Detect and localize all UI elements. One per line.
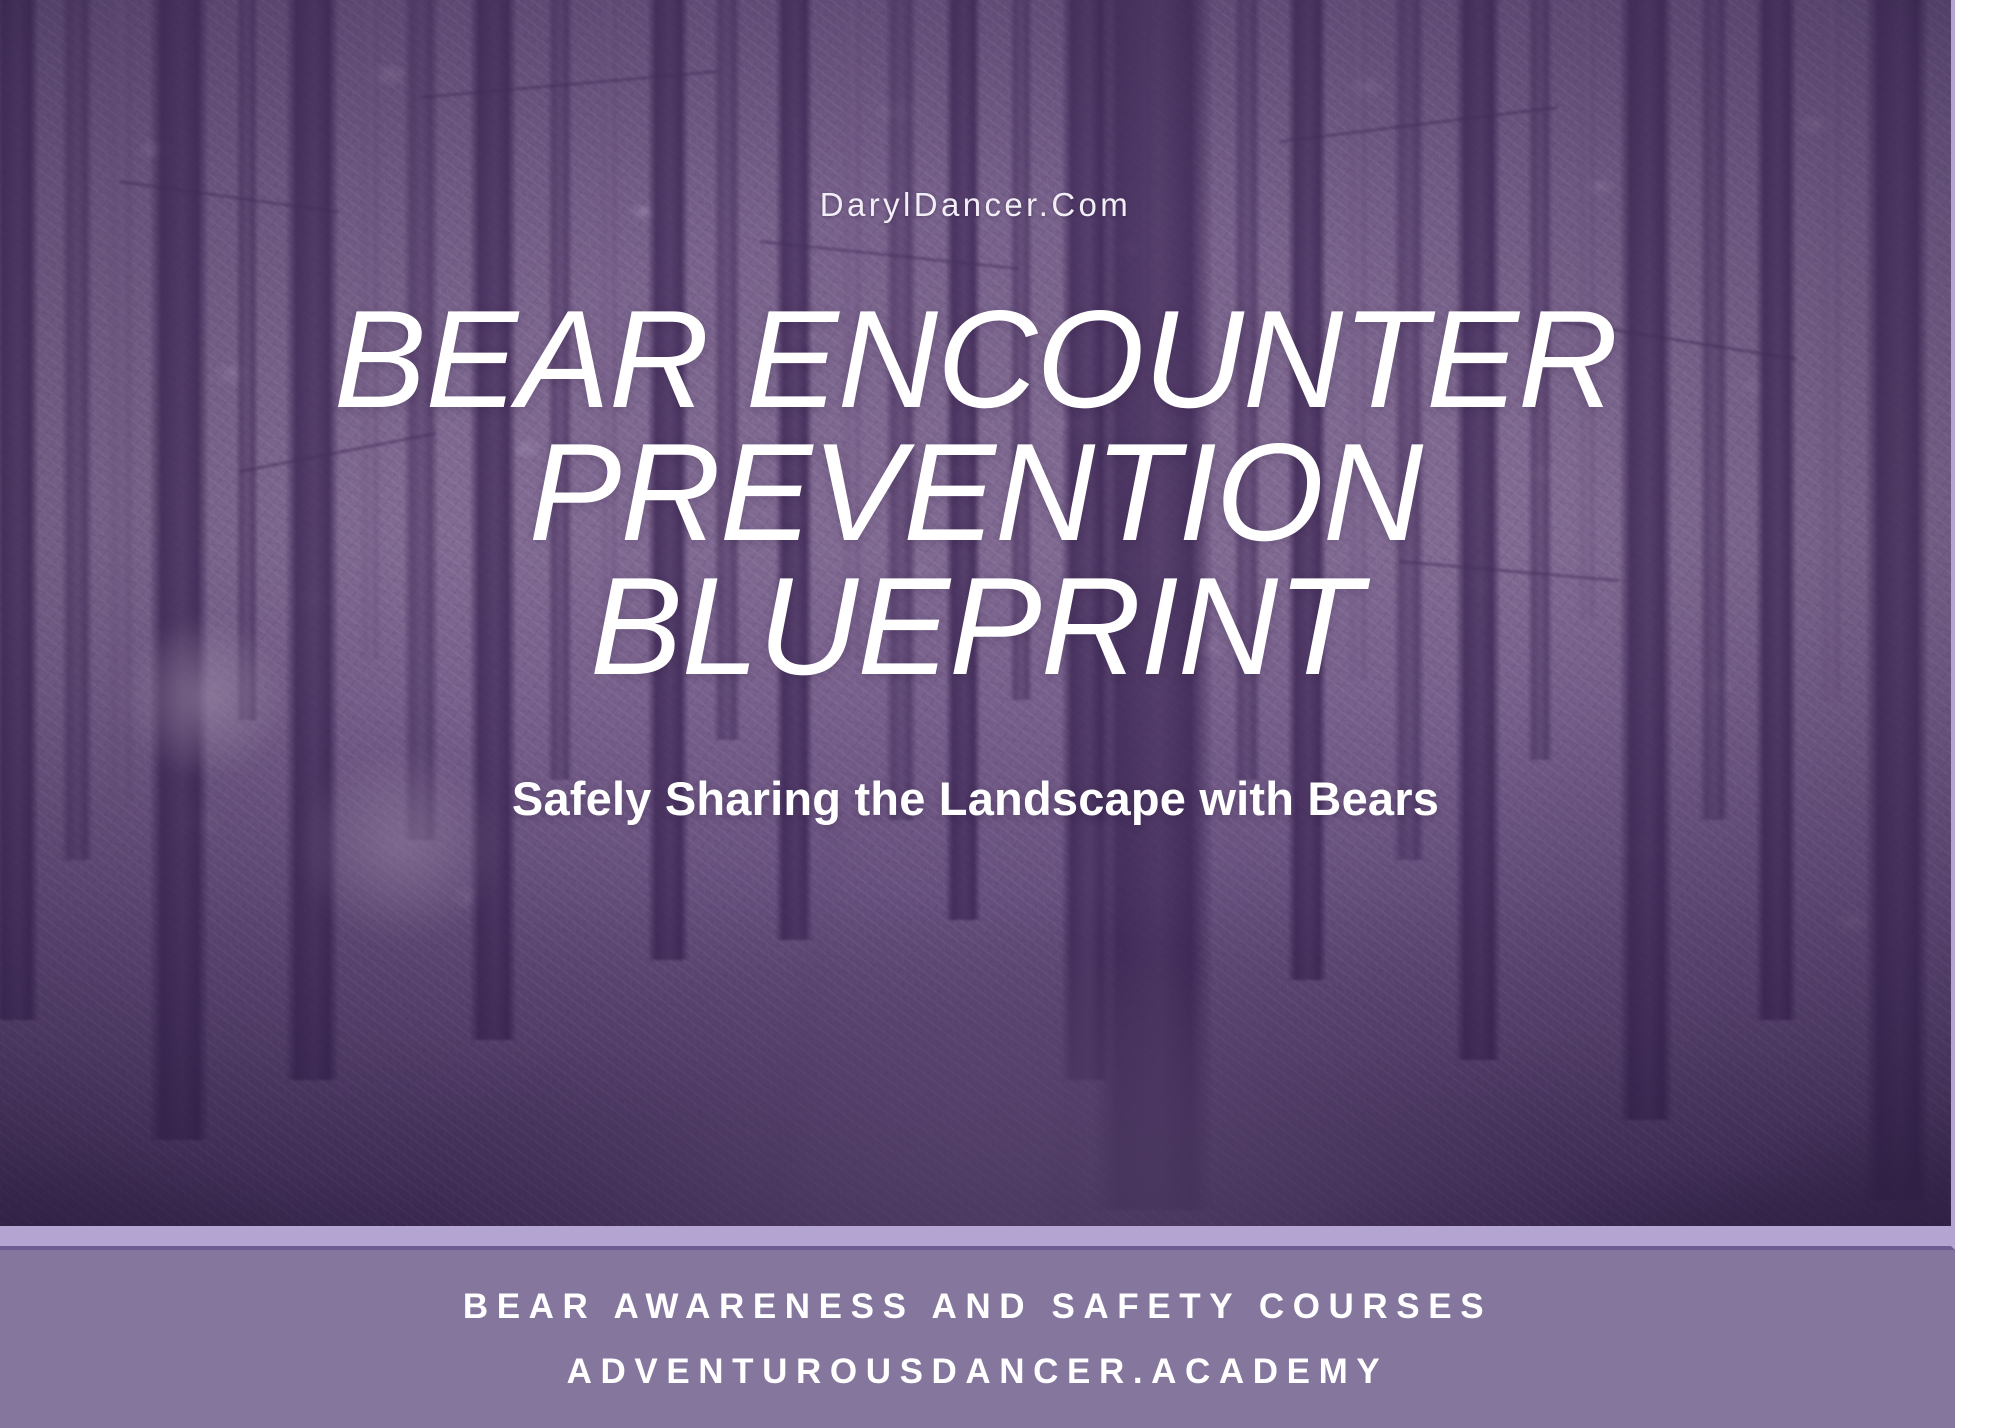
page-title: BEAR ENCOUNTER PREVENTION BLUEPRINT <box>236 293 1716 693</box>
hero-text-overlay: DarylDancer.Com BEAR ENCOUNTER PREVENTIO… <box>0 0 1951 1246</box>
site-url-label: DarylDancer.Com <box>820 188 1131 221</box>
footer-website-label: ADVENTUROUSDANCER.ACADEMY <box>567 1354 1389 1389</box>
footer-courses-label: BEAR AWARENESS AND SAFETY COURSES <box>463 1289 1492 1324</box>
divider-strip <box>0 1226 1951 1246</box>
forest-hero-image: DarylDancer.Com BEAR ENCOUNTER PREVENTIO… <box>0 0 1955 1250</box>
page-title-line-2: PREVENTION <box>236 426 1716 559</box>
page-title-line-3: BLUEPRINT <box>236 560 1716 693</box>
page-title-line-1: BEAR ENCOUNTER <box>236 293 1716 426</box>
poster-canvas: DarylDancer.Com BEAR ENCOUNTER PREVENTIO… <box>0 0 2000 1428</box>
footer-bar: BEAR AWARENESS AND SAFETY COURSES ADVENT… <box>0 1250 1955 1428</box>
page-subtitle: Safely Sharing the Landscape with Bears <box>512 771 1439 826</box>
